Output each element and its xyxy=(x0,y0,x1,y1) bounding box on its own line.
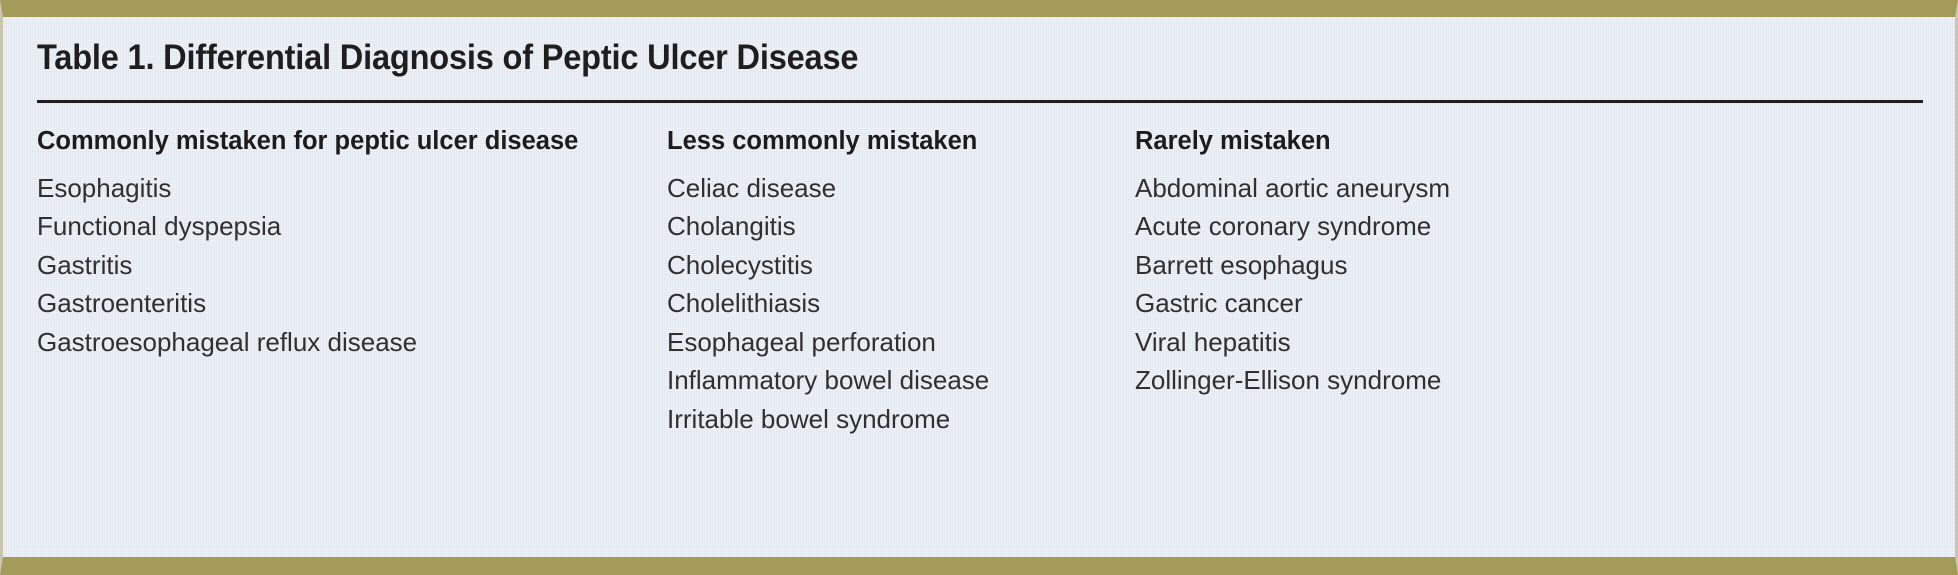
page-title: Table 1. Differential Diagnosis of Pepti… xyxy=(37,17,1789,78)
table-card: Table 1. Differential Diagnosis of Pepti… xyxy=(0,0,1958,575)
list-item: Cholelithiasis xyxy=(667,284,1135,323)
list-item: Esophagitis xyxy=(37,169,667,208)
list-item: Cholecystitis xyxy=(667,246,1135,285)
list-item: Abdominal aortic aneurysm xyxy=(1135,169,1835,208)
column-header-rarely-mistaken: Rarely mistaken xyxy=(1135,129,1835,169)
list-item: Barrett esophagus xyxy=(1135,246,1835,285)
list-item: Esophageal perforation xyxy=(667,323,1135,362)
list-item: Cholangitis xyxy=(667,207,1135,246)
title-divider xyxy=(37,100,1923,103)
table-columns: Commonly mistaken for peptic ulcer disea… xyxy=(37,129,1921,438)
table-column-less-commonly-mistaken: Less commonly mistaken Celiac disease Ch… xyxy=(667,129,1135,438)
list-item: Irritable bowel syndrome xyxy=(667,400,1135,439)
diagnosis-list-rarely-mistaken: Abdominal aortic aneurysm Acute coronary… xyxy=(1135,169,1835,400)
list-item: Zollinger-Ellison syndrome xyxy=(1135,361,1835,400)
list-item: Gastritis xyxy=(37,246,667,285)
list-item: Acute coronary syndrome xyxy=(1135,207,1835,246)
list-item: Celiac disease xyxy=(667,169,1135,208)
list-item: Inflammatory bowel disease xyxy=(667,361,1135,400)
list-item: Gastroenteritis xyxy=(37,284,667,323)
column-header-commonly-mistaken: Commonly mistaken for peptic ulcer disea… xyxy=(37,129,667,169)
table-card-inner: Table 1. Differential Diagnosis of Pepti… xyxy=(3,17,1955,557)
list-item: Gastroesophageal reflux disease xyxy=(37,323,667,362)
list-item: Functional dyspepsia xyxy=(37,207,667,246)
diagnosis-list-commonly-mistaken: Esophagitis Functional dyspepsia Gastrit… xyxy=(37,169,667,362)
list-item: Gastric cancer xyxy=(1135,284,1835,323)
list-item: Viral hepatitis xyxy=(1135,323,1835,362)
table-column-rarely-mistaken: Rarely mistaken Abdominal aortic aneurys… xyxy=(1135,129,1835,438)
table-column-commonly-mistaken: Commonly mistaken for peptic ulcer disea… xyxy=(37,129,667,438)
column-header-less-commonly-mistaken: Less commonly mistaken xyxy=(667,129,1135,169)
diagnosis-list-less-commonly-mistaken: Celiac disease Cholangitis Cholecystitis… xyxy=(667,169,1135,439)
